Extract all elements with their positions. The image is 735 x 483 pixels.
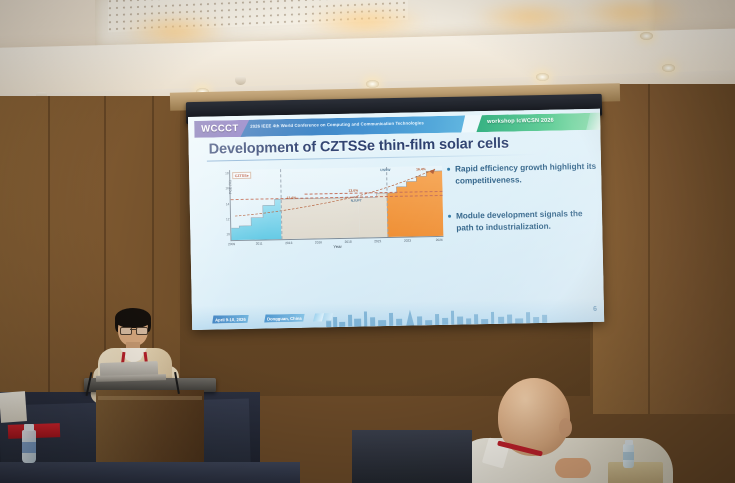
chart-x-tick: 2023 bbox=[404, 238, 411, 242]
downlight-icon bbox=[640, 32, 653, 40]
left-wall bbox=[0, 96, 200, 396]
audience-ear bbox=[559, 418, 572, 437]
chart-plot-area: PCE (%) 18 16 14 12 10 bbox=[229, 166, 443, 241]
chart-annotation-plateau: 12.6% bbox=[287, 195, 297, 199]
chart-y-tick: 16 bbox=[225, 186, 229, 190]
slide-bullet: Module development signals the path to i… bbox=[448, 208, 598, 234]
projection-screen: WCCCT 2026 IEEE 4th World Conference on … bbox=[188, 109, 604, 330]
slide-page-number: 6 bbox=[593, 306, 597, 313]
chart-annotation-unsw: UNSW bbox=[380, 168, 390, 172]
chart-x-tick: 2009 bbox=[228, 242, 235, 246]
downlight-icon bbox=[662, 64, 675, 72]
chart-series-svg bbox=[230, 166, 443, 240]
chart-x-tick: 2011 bbox=[256, 241, 263, 245]
chart-series-label: CZTSSe bbox=[232, 172, 251, 179]
chart-x-axis-label: Year bbox=[333, 244, 342, 249]
slide-bullet-list: Rapid efficiency growth highlight its co… bbox=[447, 161, 599, 258]
chart-annotation-mid: 13.0% bbox=[348, 189, 358, 193]
conference-acronym: WCCCT bbox=[201, 122, 239, 134]
chart-x-tick: 2026 bbox=[436, 237, 443, 241]
presentation-slide: WCCCT 2026 IEEE 4th World Conference on … bbox=[188, 109, 604, 330]
foreground-table bbox=[0, 462, 300, 483]
audience-member bbox=[463, 372, 663, 483]
chart-annotation-latest: 16.4% bbox=[416, 168, 426, 172]
footer-date-tag: April 9-10, 2026 bbox=[212, 315, 249, 324]
chart-y-tick: 14 bbox=[226, 202, 230, 206]
downlight-icon bbox=[536, 73, 549, 81]
presenter-hair bbox=[115, 308, 151, 328]
efficiency-chart: PCE (%) 18 16 14 12 10 bbox=[203, 160, 451, 261]
chart-y-tick: 10 bbox=[226, 233, 230, 237]
foreground-chair bbox=[352, 430, 472, 483]
conference-room-photo: WCCCT 2026 IEEE 4th World Conference on … bbox=[0, 0, 735, 483]
chart-y-tick: 18 bbox=[225, 171, 229, 175]
footer-location-tag: Dongguan, China bbox=[264, 314, 305, 323]
chart-x-tick: 2018 bbox=[345, 239, 352, 243]
glasses-icon bbox=[136, 327, 148, 335]
cove-light-glow bbox=[300, 6, 430, 36]
chart-x-tick: 2021 bbox=[374, 239, 381, 243]
audience-hand bbox=[555, 458, 591, 478]
right-wall bbox=[590, 84, 735, 414]
downlight-icon bbox=[366, 80, 379, 88]
papers bbox=[0, 391, 27, 423]
slide-bullet: Rapid efficiency growth highlight its co… bbox=[447, 161, 597, 187]
chart-x-tick: 2013 bbox=[285, 240, 292, 244]
chair-back bbox=[608, 462, 663, 483]
chart-y-tick: 12 bbox=[226, 217, 230, 221]
chart-annotation-njupt: NJUPT bbox=[351, 198, 362, 202]
chart-x-tick: 2016 bbox=[315, 240, 322, 244]
smoke-detector-icon bbox=[235, 76, 246, 85]
